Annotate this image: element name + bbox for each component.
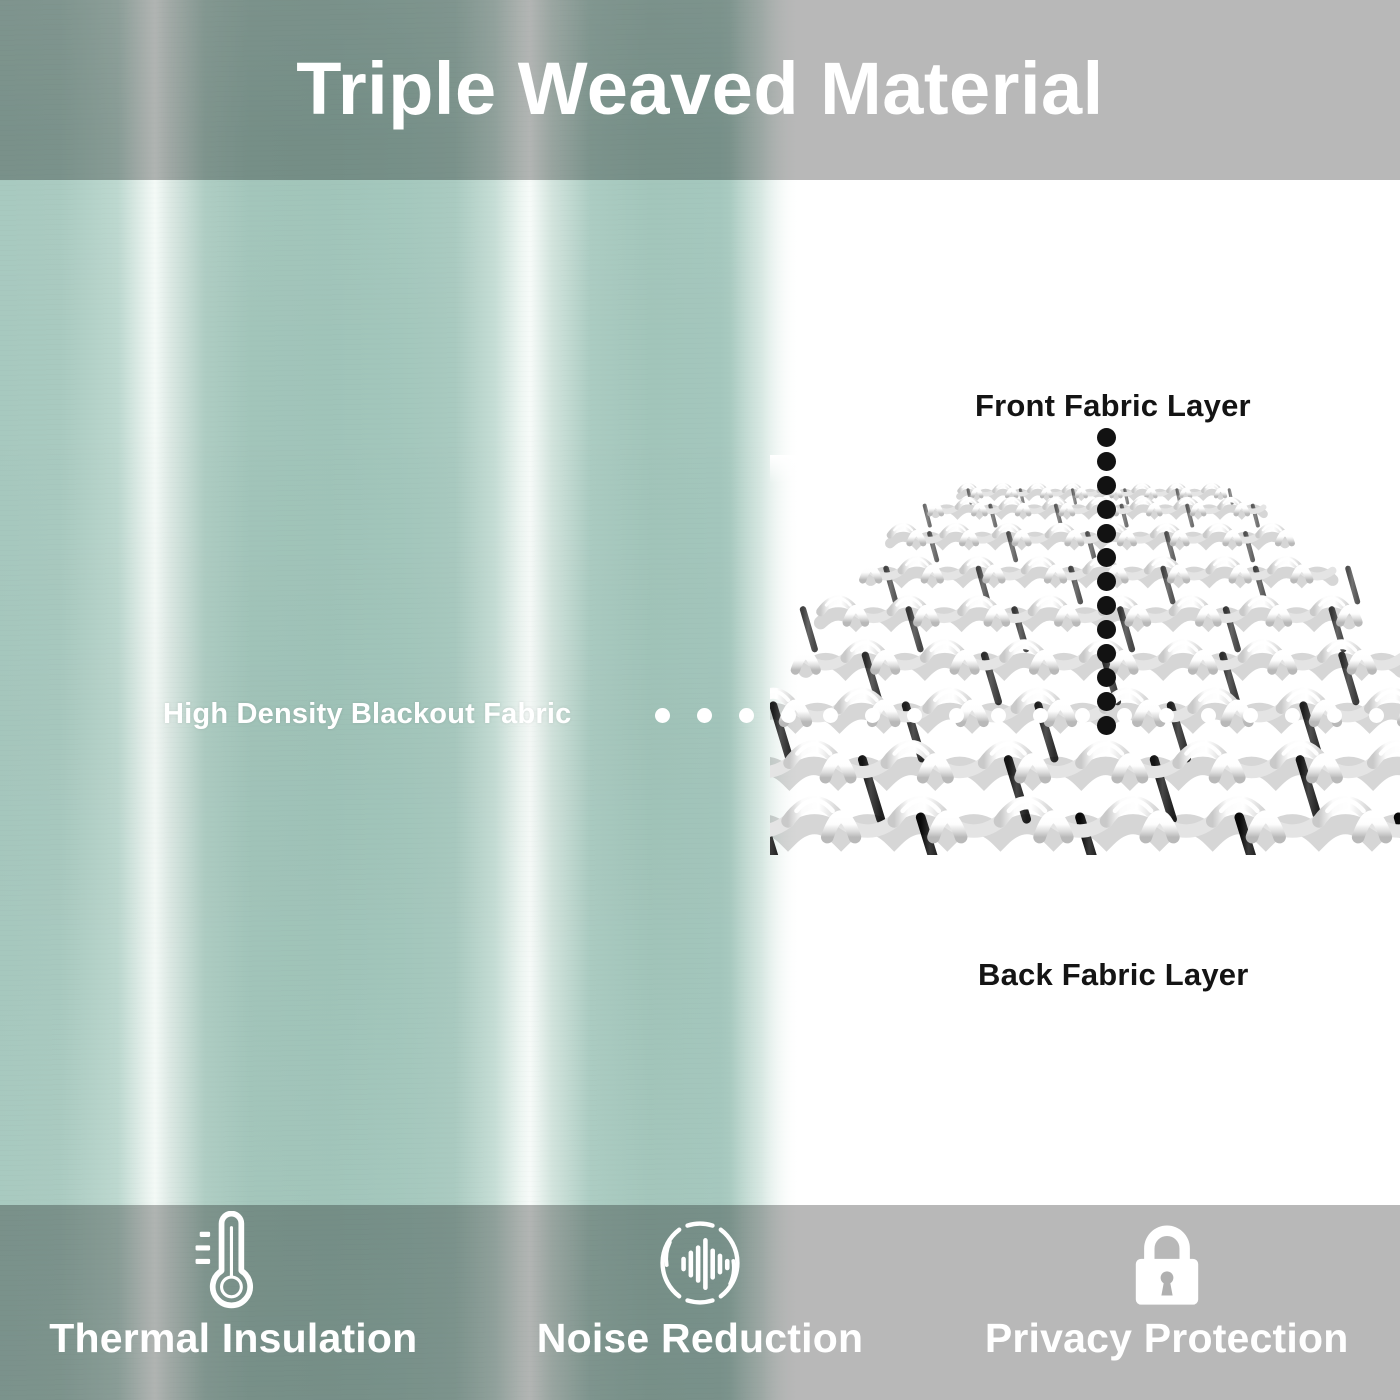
weave-diagram-svg bbox=[770, 455, 1400, 855]
back-fabric-layer-label: Back Fabric Layer bbox=[978, 957, 1249, 993]
weave-top-fade bbox=[770, 455, 1400, 507]
sound-wave-icon bbox=[648, 1211, 752, 1315]
feature-label: Privacy Protection bbox=[985, 1317, 1349, 1360]
infographic-canvas: High Density Blackout Fabric Front Fabri… bbox=[0, 0, 1400, 1400]
front-fabric-layer-label: Front Fabric Layer bbox=[975, 388, 1251, 424]
woven-fabric-illustration bbox=[770, 455, 1400, 855]
padlock-icon bbox=[1115, 1211, 1219, 1315]
leader-dot bbox=[1097, 428, 1116, 447]
feature-thermal-insulation[interactable]: Thermal Insulation bbox=[0, 1205, 467, 1400]
feature-noise-reduction[interactable]: Noise Reduction bbox=[467, 1205, 934, 1400]
thermometer-icon bbox=[181, 1211, 285, 1315]
feature-label: Thermal Insulation bbox=[49, 1317, 417, 1360]
feature-label: Noise Reduction bbox=[537, 1317, 863, 1360]
feature-privacy-protection[interactable]: Privacy Protection bbox=[933, 1205, 1400, 1400]
weave-yarn bbox=[1348, 569, 1357, 602]
feature-strip: Thermal Insulation bbox=[0, 1205, 1400, 1400]
weave-yarn bbox=[803, 609, 815, 649]
page-title: Triple Weaved Material bbox=[0, 52, 1400, 126]
blackout-fabric-label: High Density Blackout Fabric bbox=[163, 698, 571, 731]
